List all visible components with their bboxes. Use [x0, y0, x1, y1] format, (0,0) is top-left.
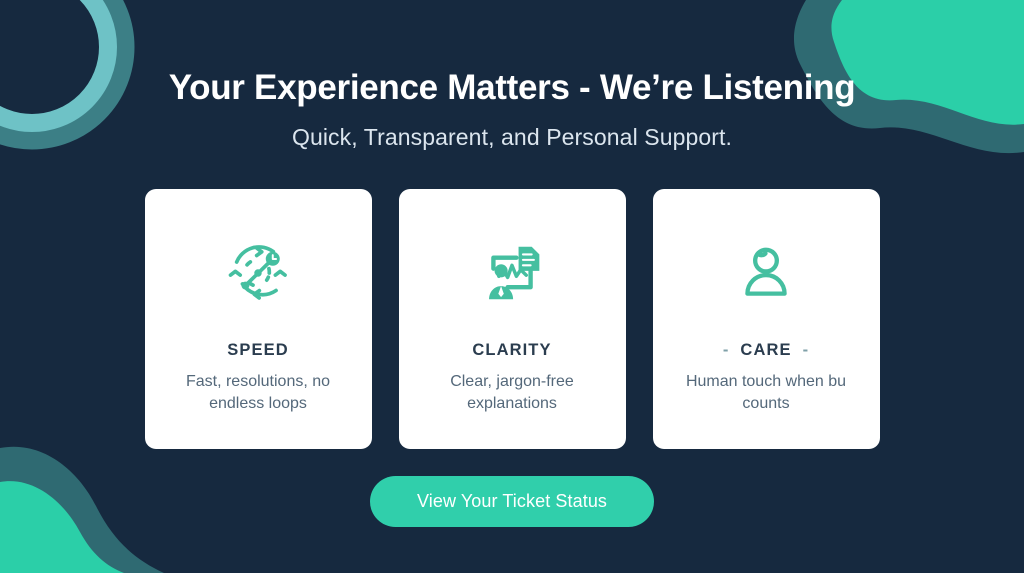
content-column: Your Experience Matters - We’re Listenin…: [0, 0, 1024, 573]
title-dash-left: -: [723, 341, 730, 360]
card-description-speed: Fast, resolutions, no endless loops: [158, 371, 358, 415]
card-title-care: - CARE -: [723, 341, 809, 360]
card-title-clarity: CLARITY: [461, 341, 562, 360]
feature-card-list: SPEED Fast, resolutions, no endless loop…: [145, 189, 880, 449]
feature-card-speed[interactable]: SPEED Fast, resolutions, no endless loop…: [145, 189, 372, 449]
card-title-speed: SPEED: [216, 341, 299, 360]
feature-card-care[interactable]: - CARE - Human touch when bu counts: [653, 189, 880, 449]
feature-card-clarity[interactable]: CLARITY Clear, jargon-free explanations: [399, 189, 626, 449]
speed-gauge-icon: [215, 233, 301, 313]
card-title-text: CLARITY: [472, 341, 551, 360]
card-description-care: Human touch when bu counts: [666, 371, 866, 415]
page-subtitle: Quick, Transparent, and Personal Support…: [292, 124, 732, 151]
view-ticket-status-button[interactable]: View Your Ticket Status: [370, 476, 654, 527]
title-dash-right: -: [803, 341, 810, 360]
card-description-clarity: Clear, jargon-free explanations: [412, 371, 612, 415]
person-user-icon: [723, 233, 809, 313]
document-glyph: [519, 247, 540, 271]
card-title-text: CARE: [740, 341, 791, 360]
page-root: Your Experience Matters - We’re Listenin…: [0, 0, 1024, 573]
cta-container: View Your Ticket Status: [370, 476, 654, 527]
page-title: Your Experience Matters - We’re Listenin…: [169, 68, 856, 108]
presentation-chart-document-icon: [469, 233, 555, 313]
card-title-text: SPEED: [227, 341, 288, 360]
